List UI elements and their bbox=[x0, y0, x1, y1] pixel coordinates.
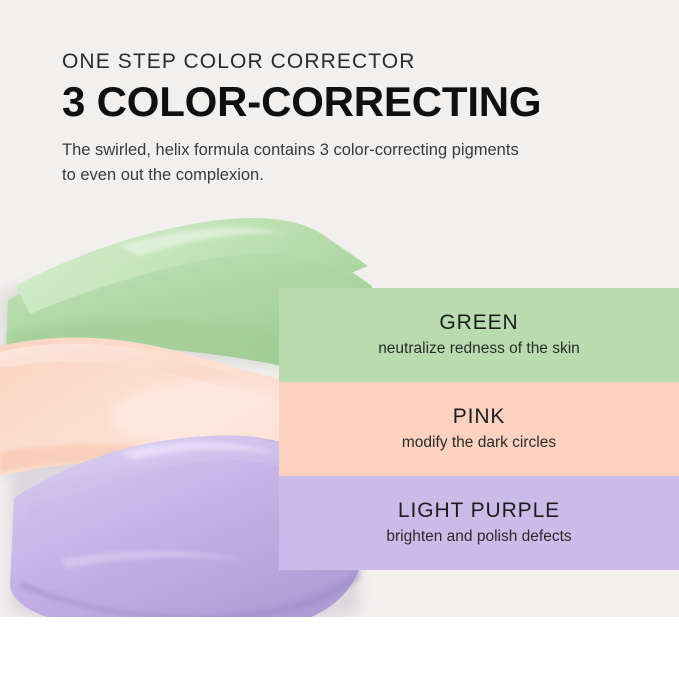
header-text-block: ONE STEP COLOR CORRECTOR 3 COLOR-CORRECT… bbox=[62, 50, 642, 187]
product-description: The swirled, helix formula contains 3 co… bbox=[62, 138, 532, 187]
band-green: GREEN neutralize redness of the skin bbox=[279, 288, 679, 382]
band-light-purple-title: LIGHT PURPLE bbox=[398, 499, 560, 522]
band-green-description: neutralize redness of the skin bbox=[378, 340, 580, 359]
product-eyebrow: ONE STEP COLOR CORRECTOR bbox=[62, 50, 642, 73]
band-pink-title: PINK bbox=[453, 405, 506, 428]
product-infographic: GREEN neutralize redness of the skin PIN… bbox=[0, 0, 679, 679]
bottom-white-margin bbox=[0, 617, 679, 679]
page-title: 3 COLOR-CORRECTING bbox=[62, 79, 642, 124]
band-green-title: GREEN bbox=[439, 311, 518, 334]
band-pink: PINK modify the dark circles bbox=[279, 382, 679, 476]
band-pink-description: modify the dark circles bbox=[402, 434, 556, 453]
band-light-purple-description: brighten and polish defects bbox=[386, 528, 571, 547]
band-light-purple: LIGHT PURPLE brighten and polish defects bbox=[279, 476, 679, 570]
